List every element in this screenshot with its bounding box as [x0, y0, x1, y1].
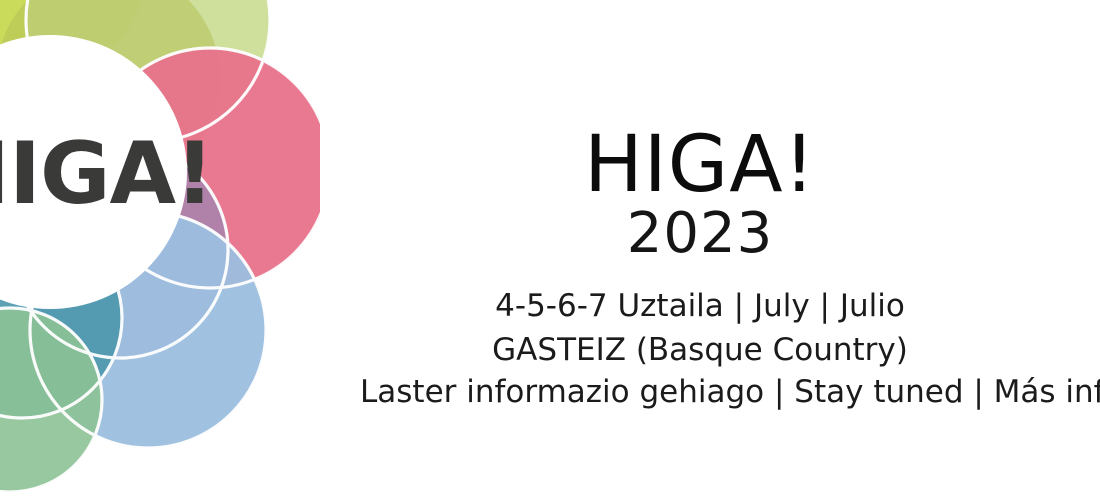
- event-tagline: Laster informazio gehiago | Stay tuned |…: [360, 372, 1100, 412]
- event-location: GASTEIZ (Basque Country): [300, 330, 1100, 370]
- higa-logo: HIGA!: [0, 0, 320, 500]
- event-text-block: HIGA! 2023 4-5-6-7 Uztaila | July | Juli…: [300, 0, 1100, 500]
- event-year: 2023: [300, 206, 1100, 262]
- page-title: HIGA!: [300, 126, 1100, 204]
- logo-circles-graphic: [0, 0, 320, 500]
- event-dates: 4-5-6-7 Uztaila | July | Julio: [300, 286, 1100, 326]
- event-banner: HIGA! HIGA! 2023 4-5-6-7 Uztaila | July …: [0, 0, 1100, 500]
- logo-wordmark: HIGA!: [0, 128, 198, 220]
